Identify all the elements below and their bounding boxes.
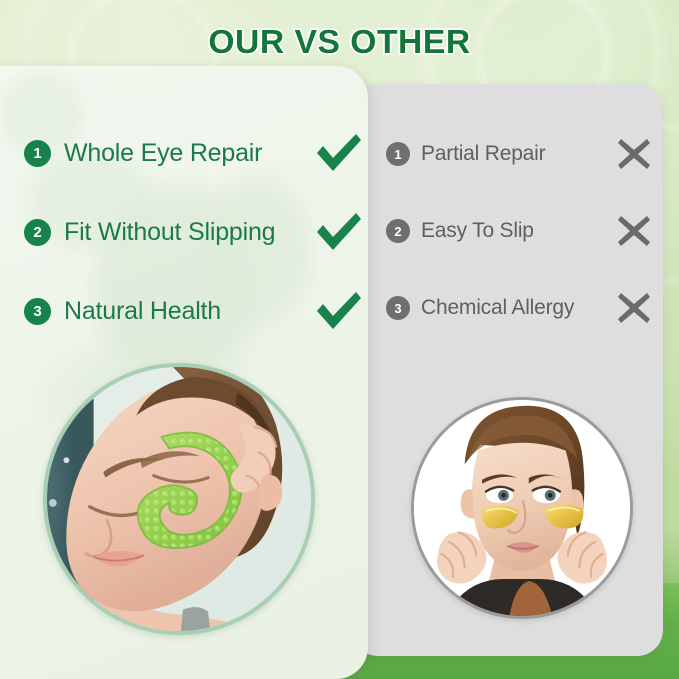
ours-feature-row: 1 Whole Eye Repair xyxy=(24,127,364,179)
check-icon xyxy=(312,131,364,175)
ours-feature-row: 3 Natural Health xyxy=(24,285,364,337)
infographic-canvas: OUR VS OTHER 1 Whole Eye Repair 2 Fit Wi… xyxy=(0,0,679,679)
ours-feature-row: 2 Fit Without Slipping xyxy=(24,206,364,258)
cross-icon xyxy=(614,135,654,173)
check-icon xyxy=(312,289,364,333)
other-number-badge: 2 xyxy=(386,219,410,243)
ours-feature-label: Whole Eye Repair xyxy=(64,139,308,168)
other-product-photo xyxy=(411,397,633,619)
ours-number-badge: 1 xyxy=(24,140,51,167)
other-feature-label: Chemical Allergy xyxy=(421,296,608,320)
ours-feature-list: 1 Whole Eye Repair 2 Fit Without Slippin… xyxy=(24,127,364,364)
other-feature-row: 2 Easy To Slip xyxy=(386,205,654,257)
ours-feature-label: Natural Health xyxy=(64,297,308,326)
other-feature-row: 1 Partial Repair xyxy=(386,128,654,180)
other-feature-list: 1 Partial Repair 2 Easy To Slip 3 Chemic… xyxy=(386,128,654,359)
other-feature-row: 3 Chemical Allergy xyxy=(386,282,654,334)
other-number-badge: 1 xyxy=(386,142,410,166)
check-icon xyxy=(312,210,364,254)
other-feature-label: Partial Repair xyxy=(421,142,608,166)
ours-number-badge: 3 xyxy=(24,298,51,325)
cross-icon xyxy=(614,289,654,327)
other-feature-label: Easy To Slip xyxy=(421,219,608,243)
page-title: OUR VS OTHER xyxy=(0,23,679,61)
ours-feature-label: Fit Without Slipping xyxy=(64,218,308,247)
cross-icon xyxy=(614,212,654,250)
ours-number-badge: 2 xyxy=(24,219,51,246)
ours-product-photo xyxy=(43,363,315,635)
other-number-badge: 3 xyxy=(386,296,410,320)
